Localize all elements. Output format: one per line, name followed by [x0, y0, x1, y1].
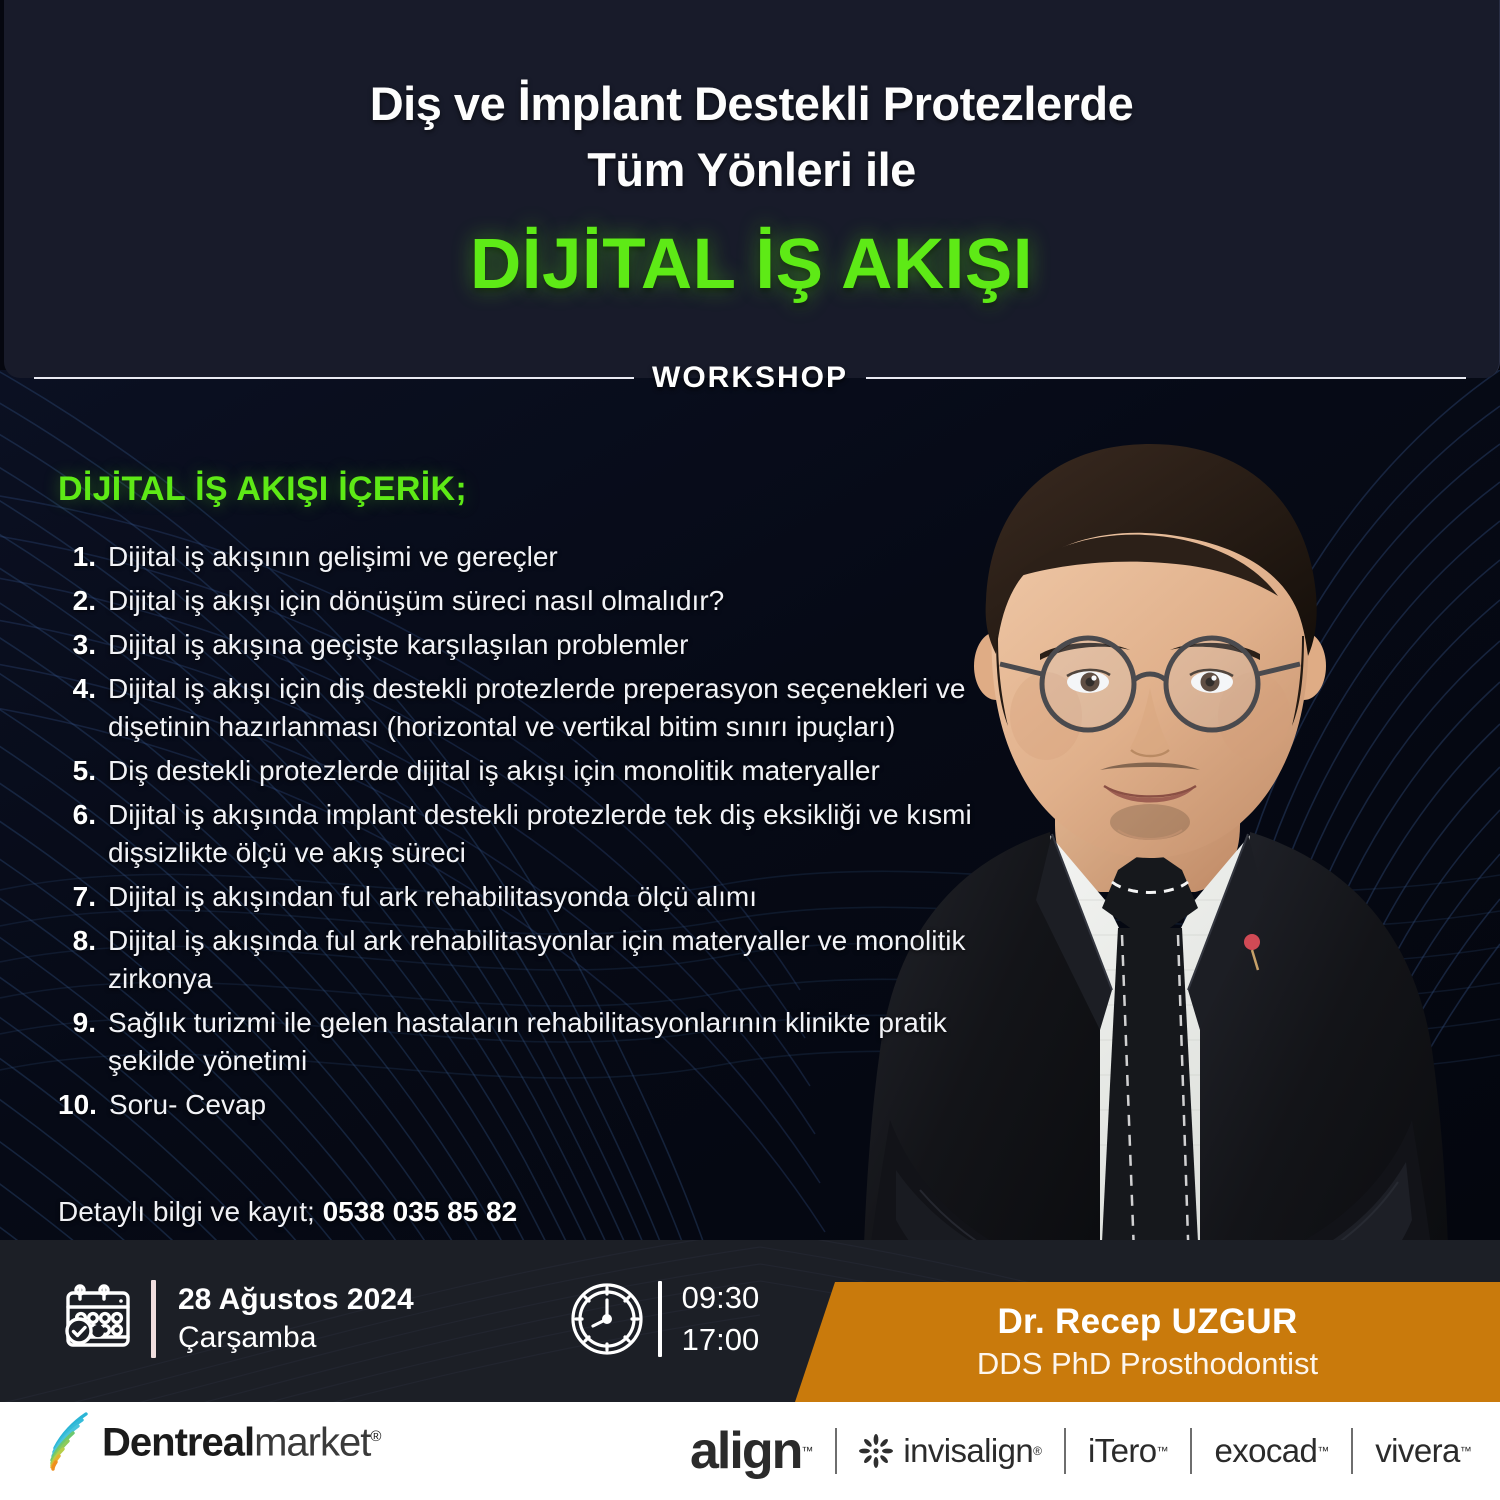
brand-part1: Dentreal — [102, 1421, 254, 1465]
partner-vivera-label: vivera — [1375, 1432, 1459, 1470]
brand-registered-mark: ® — [370, 1428, 380, 1445]
list-item-text: Soru- Cevap — [109, 1086, 266, 1124]
workshop-label: WORKSHOP — [652, 361, 848, 395]
list-item-text: Dijital iş akışından ful ark rehabilitas… — [108, 878, 757, 916]
partner-divider — [1351, 1428, 1353, 1474]
list-item: 7. Dijital iş akışından ful ark rehabili… — [58, 878, 988, 916]
event-start-time: 09:30 — [682, 1277, 760, 1319]
list-item: 3. Dijital iş akışına geçişte karşılaşıl… — [58, 626, 988, 664]
list-item-text: Dijital iş akışında implant destekli pro… — [108, 796, 988, 872]
partner-divider — [1064, 1428, 1066, 1474]
list-item-number: 3. — [58, 626, 108, 664]
partner-divider — [835, 1428, 837, 1474]
partner-align-label: align — [690, 1423, 801, 1479]
event-meta: 28 Ağustos 2024 Çarşamba — [55, 1258, 759, 1380]
partner-itero[interactable]: iTero™ — [1088, 1432, 1169, 1470]
dentrealmarket-logo[interactable]: Dentrealmarket® — [40, 1408, 380, 1472]
partner-exocad-label: exocad — [1214, 1432, 1317, 1470]
list-item: 8. Dijital iş akışında ful ark rehabilit… — [58, 922, 988, 998]
partner-vivera-mark: ™ — [1460, 1444, 1472, 1458]
event-date-text: 28 Ağustos 2024 Çarşamba — [178, 1281, 414, 1357]
list-item-text: Dijital iş akışı için dönüşüm süreci nas… — [108, 582, 724, 620]
list-item-number: 6. — [58, 796, 108, 834]
divider-line-left — [34, 377, 634, 379]
content-area: DİJİTAL İŞ AKIŞI İÇERİK; 1. Dijital iş a… — [0, 370, 1500, 1250]
event-end-time: 17:00 — [682, 1319, 760, 1361]
speaker-name: Dr. Recep UZGUR — [997, 1300, 1297, 1344]
section-title: DİJİTAL İŞ AKIŞI İÇERİK; — [58, 470, 467, 509]
list-item-text: Dijital iş akışına geçişte karşılaşılan … — [108, 626, 688, 664]
event-date-block: 28 Ağustos 2024 Çarşamba — [55, 1276, 414, 1362]
list-item: 2. Dijital iş akışı için dönüşüm süreci … — [58, 582, 988, 620]
list-item-text: Dijital iş akışında ful ark rehabilitasy… — [108, 922, 988, 998]
event-time-block: 09:30 17:00 — [564, 1276, 760, 1362]
contact-phone[interactable]: 0538 035 85 82 — [323, 1196, 518, 1227]
list-item-text: Sağlık turizmi ile gelen hastaların reha… — [108, 1004, 988, 1080]
partner-itero-mark: ™ — [1156, 1444, 1168, 1458]
invisalign-star-icon — [859, 1434, 893, 1468]
page-title-highlight: DİJİTAL İŞ AKIŞI — [470, 225, 1033, 305]
event-time-text: 09:30 17:00 — [682, 1277, 760, 1361]
list-item: 9. Sağlık turizmi ile gelen hastaların r… — [58, 1004, 988, 1080]
header-panel: Diş ve İmplant Destekli Protezlerde Tüm … — [4, 0, 1500, 378]
list-item: 10. Soru- Cevap — [58, 1086, 988, 1124]
partner-invisalign-label: invisalign — [903, 1432, 1033, 1470]
list-item-number: 9. — [58, 1004, 108, 1042]
list-item-text: Dijital iş akışı için diş destekli prote… — [108, 670, 988, 746]
list-item-number: 5. — [58, 752, 108, 790]
list-item-text: Dijital iş akışının gelişimi ve gereçler — [108, 538, 558, 576]
list-item: 6. Dijital iş akışında implant destekli … — [58, 796, 988, 872]
workshop-divider: WORKSHOP — [0, 352, 1500, 404]
event-date: 28 Ağustos 2024 — [178, 1281, 414, 1319]
poster-root: Diş ve İmplant Destekli Protezlerde Tüm … — [0, 0, 1500, 1500]
list-item-number: 1. — [58, 538, 108, 576]
partner-exocad-mark: ™ — [1317, 1444, 1329, 1458]
list-item: 5. Diş destekli protezlerde dijital iş a… — [58, 752, 988, 790]
dentreal-feather-icon — [40, 1408, 102, 1472]
brand-wordmark: Dentrealmarket® — [102, 1414, 380, 1465]
contact-label: Detaylı bilgi ve kayıt; — [58, 1196, 315, 1227]
partner-logos: align™ — [690, 1402, 1472, 1500]
contact-info: Detaylı bilgi ve kayıt; 0538 035 85 82 — [58, 1192, 517, 1232]
footer-bar: Dentrealmarket® align™ — [0, 1402, 1500, 1500]
partner-invisalign[interactable]: invisalign® — [859, 1432, 1042, 1470]
partner-exocad[interactable]: exocad™ — [1214, 1432, 1329, 1470]
brand-part2: market — [254, 1421, 370, 1465]
meta-divider — [658, 1281, 662, 1357]
list-item: 1. Dijital iş akışının gelişimi ve gereç… — [58, 538, 988, 576]
list-item-number: 10. — [58, 1086, 109, 1124]
speaker-role: DDS PhD Prosthodontist — [977, 1344, 1318, 1384]
page-title-line1: Diş ve İmplant Destekli Protezlerde — [370, 73, 1134, 135]
divider-line-right — [866, 377, 1466, 379]
list-item: 4. Dijital iş akışı için diş destekli pr… — [58, 670, 988, 746]
partner-itero-label: iTero — [1088, 1432, 1157, 1470]
list-item-number: 8. — [58, 922, 108, 960]
list-item-text: Diş destekli protezlerde dijital iş akış… — [108, 752, 880, 790]
partner-vivera[interactable]: vivera™ — [1375, 1432, 1471, 1470]
speaker-banner: Dr. Recep UZGUR DDS PhD Prosthodontist — [795, 1282, 1500, 1402]
event-weekday: Çarşamba — [178, 1319, 414, 1357]
topic-list: 1. Dijital iş akışının gelişimi ve gereç… — [58, 538, 988, 1130]
partner-align-mark: ™ — [801, 1444, 813, 1458]
clock-icon — [564, 1276, 650, 1362]
page-title-line2: Tüm Yönleri ile — [587, 139, 916, 201]
calendar-check-icon — [55, 1276, 141, 1362]
meta-divider — [151, 1280, 156, 1358]
partner-divider — [1190, 1428, 1192, 1474]
list-item-number: 7. — [58, 878, 108, 916]
list-item-number: 2. — [58, 582, 108, 620]
partner-invisalign-mark: ® — [1033, 1444, 1042, 1458]
list-item-number: 4. — [58, 670, 108, 708]
partner-align[interactable]: align™ — [690, 1423, 813, 1479]
